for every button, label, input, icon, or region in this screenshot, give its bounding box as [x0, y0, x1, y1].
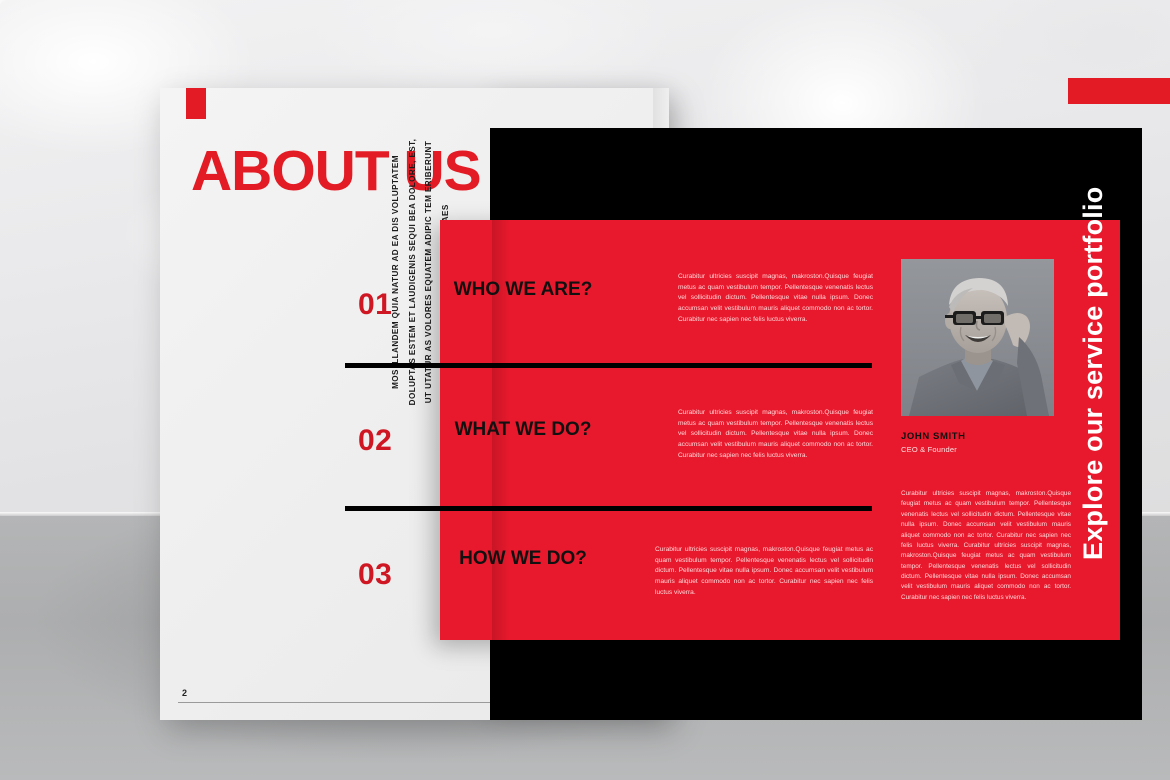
row-heading-02: WHAT WE DO?	[428, 418, 618, 443]
row-divider-1	[345, 363, 872, 368]
row-divider-2	[345, 506, 872, 511]
row-number-01: 01	[358, 288, 392, 322]
portrait-illustration	[901, 259, 1054, 416]
profile-role: CEO & Founder	[901, 445, 957, 454]
row-body-01: Curabitur ultricies suscipit magnas, mak…	[678, 272, 873, 325]
row-heading-03: HOW WE DO?	[428, 547, 618, 572]
portrait-photo	[901, 259, 1054, 416]
row-body-03: Curabitur ultricies suscipit magnas, mak…	[655, 545, 873, 598]
profile-name: JOHN SMITH	[901, 431, 966, 442]
row-number-03: 03	[358, 558, 392, 592]
profile-body-text: Curabitur ultricies suscipit magnas, mak…	[901, 489, 1071, 603]
row-body-02: Curabitur ultricies suscipit magnas, mak…	[678, 408, 873, 461]
row-heading-01: WHO WE ARE?	[428, 278, 618, 303]
row-number-02: 02	[358, 424, 392, 458]
